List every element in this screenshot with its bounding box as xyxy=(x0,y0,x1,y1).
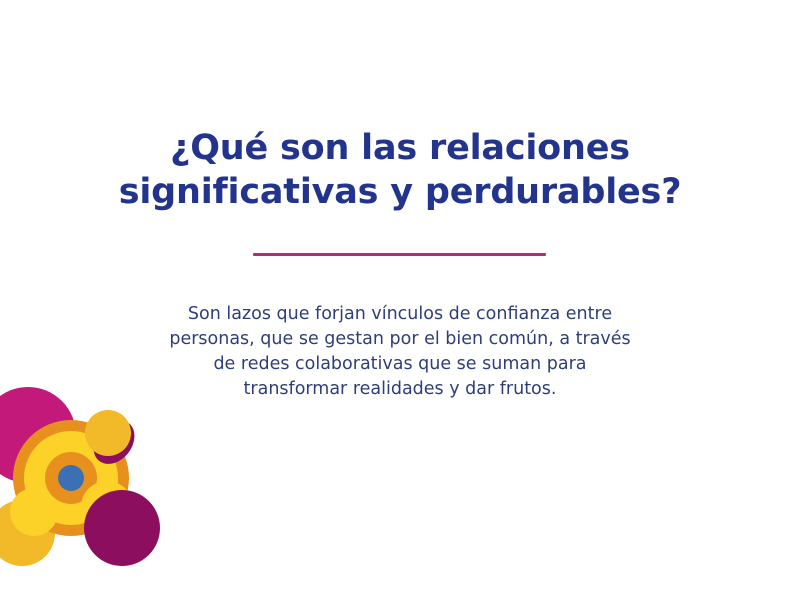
slide-canvas: ¿Qué son las relaciones significativas y… xyxy=(0,0,800,600)
body-line-2: personas, que se gestan por el bien comú… xyxy=(120,327,680,352)
page-title: ¿Qué son las relaciones significativas y… xyxy=(60,126,740,214)
body-line-3: de redes colaborativas que se suman para xyxy=(120,352,680,377)
title-line-2: significativas y perdurables? xyxy=(60,170,740,214)
decor-dark-purple-circle xyxy=(84,490,160,566)
concentric-circles-graphic xyxy=(0,370,200,600)
decor-yellow-orange-circle xyxy=(85,410,131,456)
title-line-1: ¿Qué son las relaciones xyxy=(60,126,740,170)
decor-blue-core xyxy=(58,465,84,491)
body-line-1: Son lazos que forjan vínculos de confian… xyxy=(120,302,680,327)
body-line-4: transformar realidades y dar frutos. xyxy=(120,377,680,402)
body-paragraph: Son lazos que forjan vínculos de confian… xyxy=(120,302,680,402)
decor-yellow-lobe-left xyxy=(10,488,58,536)
title-divider xyxy=(253,253,546,256)
